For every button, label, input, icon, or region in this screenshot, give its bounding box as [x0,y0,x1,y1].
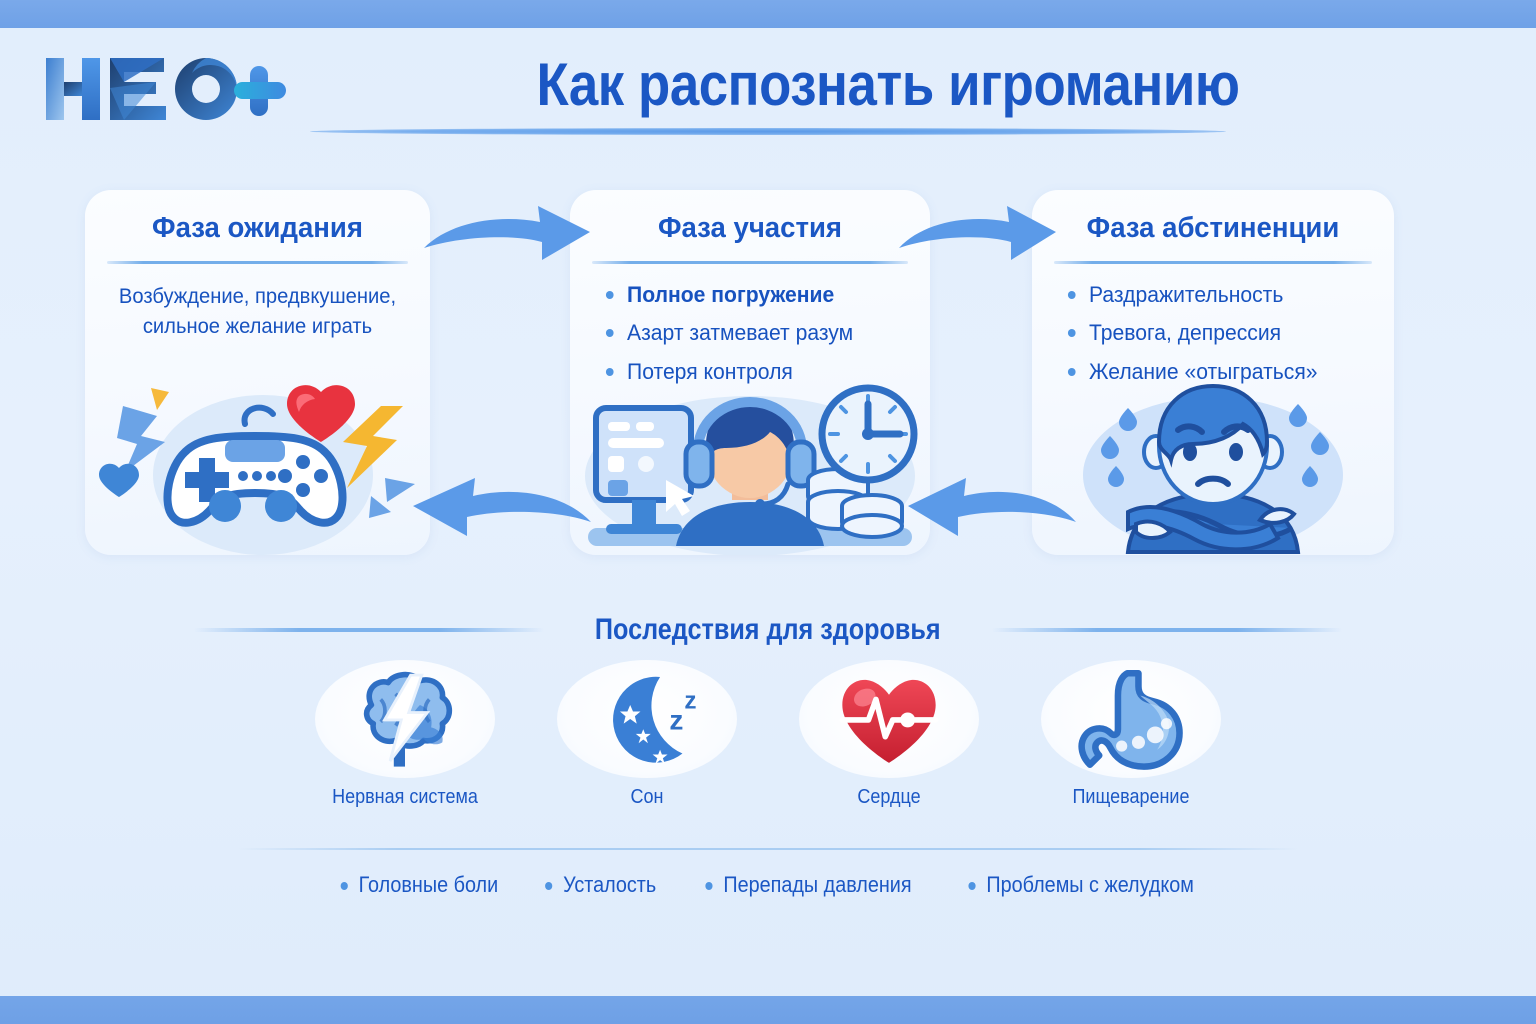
phase-title: Фаза абстиненции [1041,212,1385,245]
phase-bullet-list: Раздражительность Тревога, депрессия Жел… [1052,282,1374,385]
infographic-page: Как распознать игроманию Фаза ожидания В… [0,0,1536,1024]
symptoms-divider [238,848,1298,850]
list-item: Раздражительность [1066,282,1362,308]
card-divider [1054,261,1372,264]
heading-rule-left [194,628,544,632]
icon-label: Нервная система [324,786,486,809]
heading-rule-right [992,628,1342,632]
top-band [0,0,1536,28]
consequence-item-digestion[interactable]: Пищеварение [1041,660,1221,835]
symptoms-list: Головные боли Усталость Перепады давлени… [0,862,1536,908]
bottom-band [0,996,1536,1024]
consequence-icons: Нервная система z z Сон [0,660,1536,835]
list-item: Тревога, депрессия [1066,320,1362,346]
brand-logo [38,48,298,130]
stomach-icon [1041,660,1221,778]
consequence-item-heart[interactable]: Сердце [799,660,979,835]
arrow-waiting-to-participation [420,198,595,260]
icon-label: Сон [566,786,728,809]
arrow-abstinence-back-to-participation [900,470,1080,536]
sad-person-icon [1032,380,1394,555]
list-item: Перепады давления [704,872,912,898]
phase-card-abstinence[interactable]: Фаза абстиненции Раздражительность Трево… [1032,190,1394,555]
header-divider [310,128,1226,135]
moon-zzz-icon: z z [557,660,737,778]
phase-cards: Фаза ожидания Возбуждение, предвкушение,… [0,190,1536,565]
gamepad-hearts-icon [85,380,430,555]
consequences-heading: Последствия для здоровья [0,608,1536,652]
list-item: Проблемы с желудком [966,872,1193,898]
section-title: Последствия для здоровья [595,613,941,647]
card-divider [107,261,408,264]
arrow-participation-back-to-waiting [405,470,595,536]
svg-text:z: z [684,688,696,715]
phase-card-participation[interactable]: Фаза участия Полное погружение Азарт зат… [570,190,930,555]
header: Как распознать игроманию [0,28,1536,138]
list-item: Полное погружение [604,282,898,308]
page-title: Как распознать игроманию [371,50,1406,119]
consequence-item-nervous-system[interactable]: Нервная система [315,660,495,835]
phase-bullet-list: Полное погружение Азарт затмевает разум … [590,282,910,385]
list-item: Усталость [543,872,656,898]
gamer-monitor-clock-coins-icon [570,380,930,555]
phase-card-waiting[interactable]: Фаза ожидания Возбуждение, предвкушение,… [85,190,430,555]
list-item: Азарт затмевает разум [604,320,898,346]
card-divider [592,261,908,264]
brain-lightning-icon [315,660,495,778]
phase-title: Фаза участия [579,212,921,245]
consequence-item-sleep[interactable]: z z Сон [557,660,737,835]
icon-label: Пищеварение [1050,786,1212,809]
icon-label: Сердце [808,786,970,809]
list-item: Головные боли [339,872,498,898]
phase-title: Фаза ожидания [94,212,422,245]
phase-lead-text: Возбуждение, предвкушение, сильное желан… [111,282,404,342]
svg-text:z: z [669,704,683,735]
heart-pulse-icon [799,660,979,778]
arrow-participation-to-abstinence [895,198,1060,260]
